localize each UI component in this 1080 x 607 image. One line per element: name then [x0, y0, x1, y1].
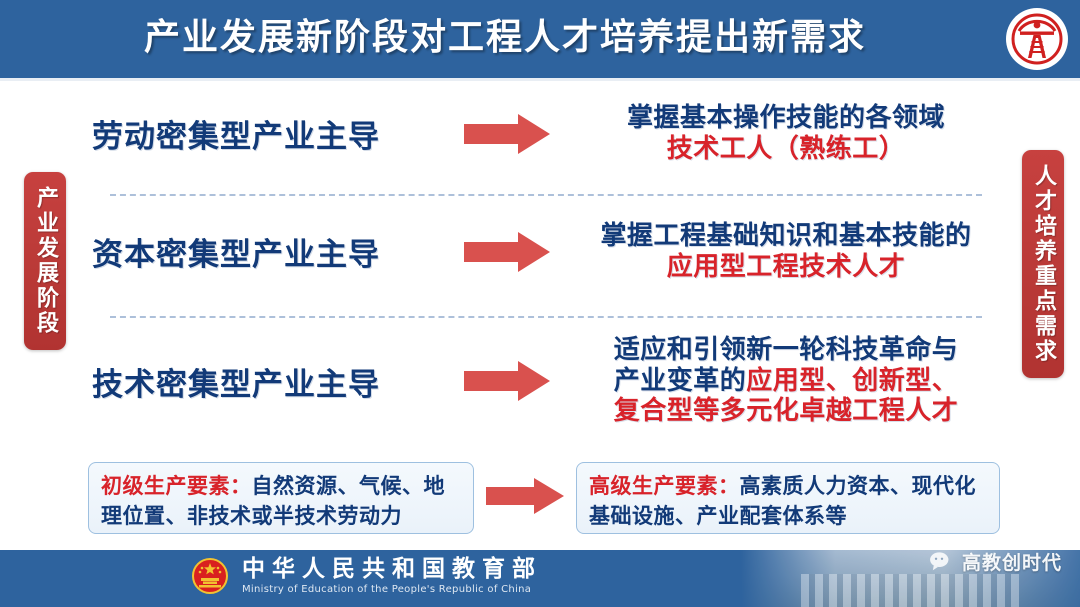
right-arrow-icon — [486, 476, 566, 516]
stage-row-3: 技术密集型产业主导 适应和引领新一轮科技革命与 产业变革的应用型、创新型、 复合… — [92, 335, 1002, 427]
primary-factors-box: 初级生产要素：自然资源、气候、地理位置、非技术或半技术劳动力 — [88, 462, 474, 534]
demand-text-2: 掌握工程基础知识和基本技能的 应用型工程技术人才 — [570, 221, 1002, 282]
primary-factors-label: 初级生产要素： — [101, 474, 252, 498]
footer-bar: 中华人民共和国教育部 Ministry of Education of the … — [0, 550, 1080, 607]
right-arrow-icon — [464, 359, 552, 403]
page-title: 产业发展新阶段对工程人才培养提出新需求 — [0, 6, 1080, 70]
national-emblem-icon — [190, 556, 230, 596]
advanced-factors-label: 高级生产要素： — [589, 474, 740, 498]
wechat-bubble-icon — [929, 551, 955, 573]
row-divider-2 — [110, 316, 982, 318]
side-tab-industry-stage: 产业发展阶段 — [24, 172, 66, 350]
stage-label-3: 技术密集型产业主导 — [92, 359, 464, 404]
ministry-name-en: Ministry of Education of the People's Re… — [242, 584, 542, 596]
advanced-factors-box: 高级生产要素：高素质人力资本、现代化基础设施、产业配套体系等 — [576, 462, 1000, 534]
demand-line-3-1: 适应和引领新一轮科技革命与 — [570, 335, 1002, 366]
demand-line-2-1: 掌握工程基础知识和基本技能的 — [570, 221, 1002, 252]
side-tab-talent-demand: 人才培养重点需求 — [1022, 150, 1064, 378]
demand-line-3-2: 产业变革的应用型、创新型、 — [570, 366, 1002, 397]
stage-label-2: 资本密集型产业主导 — [92, 229, 464, 274]
right-arrow-icon — [464, 112, 552, 156]
side-tab-left-label: 产业发展阶段 — [29, 186, 61, 336]
tower-emblem-logo — [1006, 8, 1068, 70]
demand-line-3-2-highlight: 应用型、创新型、 — [746, 366, 958, 396]
side-tab-right-label: 人才培养重点需求 — [1027, 164, 1059, 364]
stage-row-2: 资本密集型产业主导 掌握工程基础知识和基本技能的 应用型工程技术人才 — [92, 221, 1002, 282]
demand-text-3: 适应和引领新一轮科技革命与 产业变革的应用型、创新型、 复合型等多元化卓越工程人… — [570, 335, 1002, 427]
demand-text-1: 掌握基本操作技能的各领域 技术工人（熟练工） — [570, 103, 1002, 164]
stage-row-1: 劳动密集型产业主导 掌握基本操作技能的各领域 技术工人（熟练工） — [92, 103, 1002, 164]
demand-line-3-2-prefix: 产业变革的 — [614, 366, 747, 396]
watermark-label: 高教创时代 — [962, 548, 1062, 575]
demand-line-2-2: 应用型工程技术人才 — [570, 252, 1002, 283]
header-underline — [0, 78, 1080, 81]
ministry-brand: 中华人民共和国教育部 Ministry of Education of the … — [190, 556, 542, 596]
ministry-text-block: 中华人民共和国教育部 Ministry of Education of the … — [242, 556, 542, 595]
tower-emblem-icon — [1009, 11, 1065, 67]
demand-line-1-2: 技术工人（熟练工） — [570, 134, 1002, 165]
ministry-name-cn: 中华人民共和国教育部 — [242, 556, 542, 581]
right-arrow-icon — [464, 230, 552, 274]
demand-line-3-3: 复合型等多元化卓越工程人才 — [570, 396, 1002, 427]
row-divider-1 — [110, 194, 982, 196]
demand-line-1-1: 掌握基本操作技能的各领域 — [570, 103, 1002, 134]
wechat-watermark: 高教创时代 — [929, 548, 1062, 575]
stage-label-1: 劳动密集型产业主导 — [92, 111, 464, 156]
slide-root: 产业发展新阶段对工程人才培养提出新需求 产业发展阶段 人才培养重点需求 劳动密集… — [0, 0, 1080, 607]
